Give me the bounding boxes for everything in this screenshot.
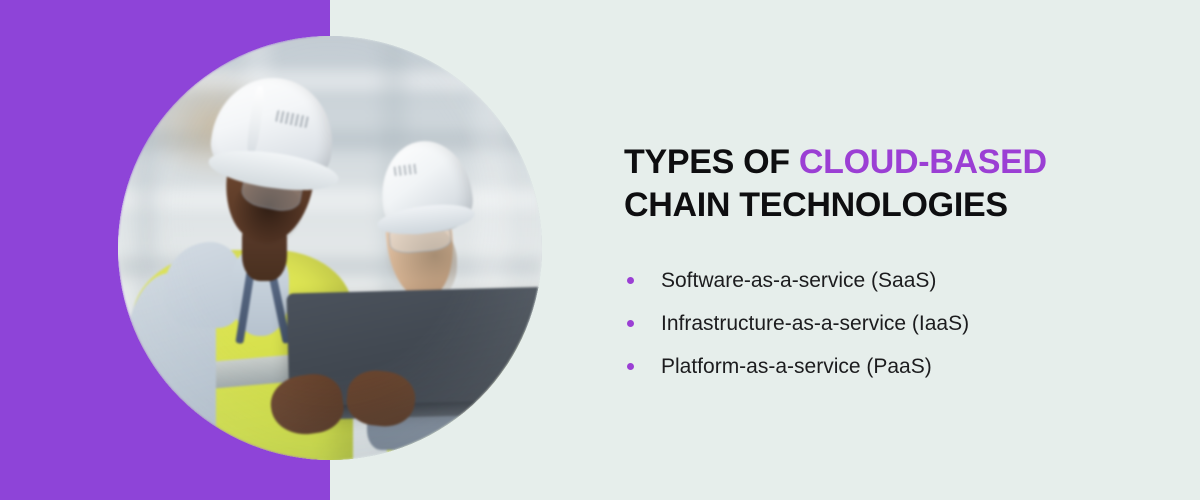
title-line-1-plain: TYPES OF bbox=[624, 143, 799, 181]
page-title: TYPES OF CLOUD-BASED CHAIN TECHNOLOGIES bbox=[624, 141, 1164, 227]
list-item-label: Software-as-a-service (SaaS) bbox=[661, 269, 936, 292]
title-line-1-accent: CLOUD-BASED bbox=[799, 143, 1047, 181]
title-line-2: CHAIN TECHNOLOGIES bbox=[624, 186, 1008, 224]
text-column: TYPES OF CLOUD-BASED CHAIN TECHNOLOGIES … bbox=[624, 141, 1164, 388]
technology-list: Software-as-a-service (SaaS) Infrastruct… bbox=[624, 259, 1164, 388]
bullet-dot-icon bbox=[627, 363, 634, 370]
circular-photo bbox=[118, 36, 542, 460]
list-item: Infrastructure-as-a-service (IaaS) bbox=[624, 302, 1164, 345]
photo-content bbox=[118, 36, 542, 460]
list-item-label: Platform-as-a-service (PaaS) bbox=[661, 355, 932, 378]
bullet-dot-icon bbox=[627, 277, 634, 284]
list-item-label: Infrastructure-as-a-service (IaaS) bbox=[661, 312, 969, 335]
list-item: Platform-as-a-service (PaaS) bbox=[624, 345, 1164, 388]
man-shoulder bbox=[163, 242, 242, 328]
list-item: Software-as-a-service (SaaS) bbox=[624, 259, 1164, 302]
bullet-dot-icon bbox=[627, 320, 634, 327]
infographic-canvas: TYPES OF CLOUD-BASED CHAIN TECHNOLOGIES … bbox=[0, 0, 1200, 500]
